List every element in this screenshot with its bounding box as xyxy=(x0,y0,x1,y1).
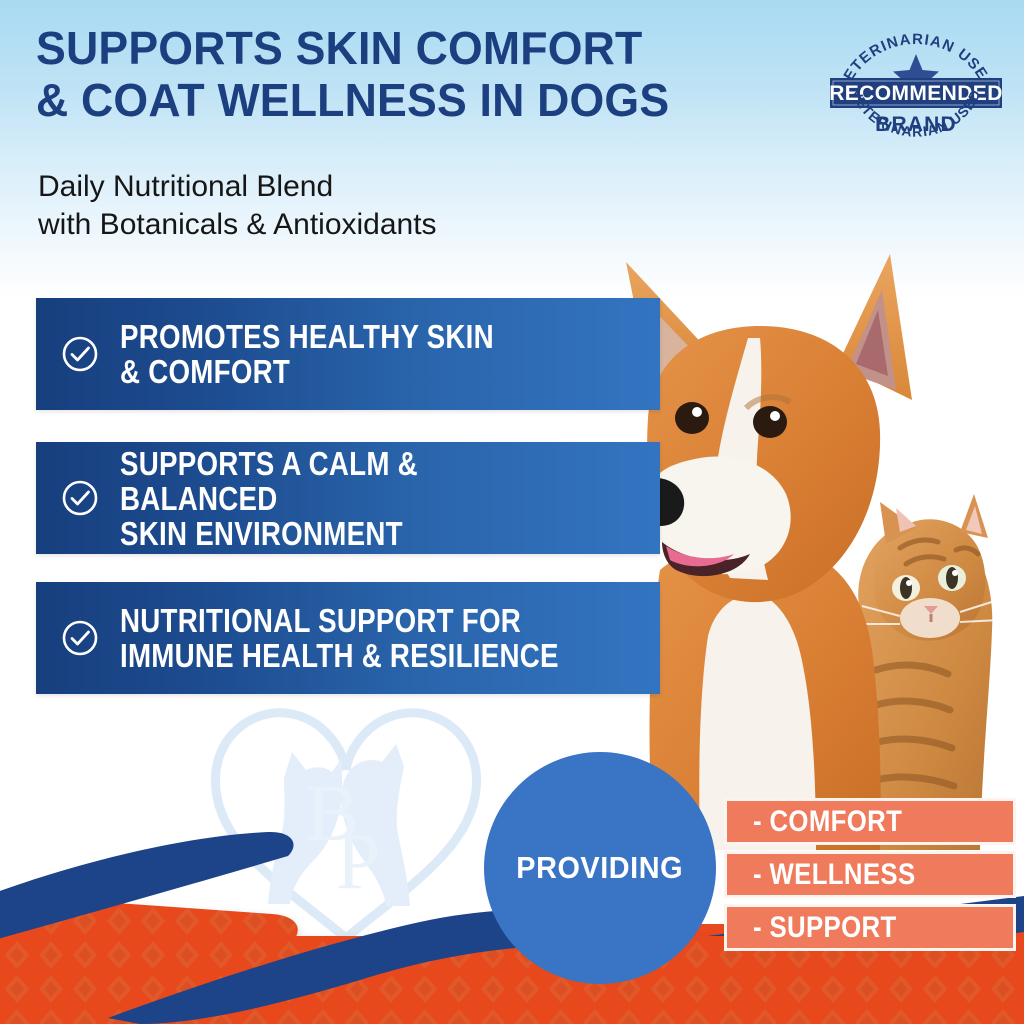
benefit-bar-2: SUPPORTS A CALM & BALANCED SKIN ENVIRONM… xyxy=(36,442,660,554)
subtitle: Daily Nutritional Blend with Botanicals … xyxy=(38,168,658,244)
check-circle-icon xyxy=(60,478,100,518)
page-title: SUPPORTS SKIN COMFORT & COAT WELLNESS IN… xyxy=(36,22,715,126)
tag-label: - SUPPORT xyxy=(753,911,897,945)
product-marketing-image: B P SUPPORTS SKIN COMFORT & COAT WELLNES… xyxy=(0,0,1024,1024)
check-circle-icon xyxy=(60,334,100,374)
providing-label: PROVIDING xyxy=(517,850,684,886)
benefit-text-3: NUTRITIONAL SUPPORT FOR IMMUNE HEALTH & … xyxy=(120,603,574,673)
benefit-bar-3: NUTRITIONAL SUPPORT FOR IMMUNE HEALTH & … xyxy=(36,582,660,694)
tag-label: - WELLNESS xyxy=(753,858,916,892)
tag-label: - COMFORT xyxy=(753,805,902,839)
check-circle-icon xyxy=(60,618,100,658)
providing-circle: PROVIDING xyxy=(484,752,716,984)
benefit-text-2: SUPPORTS A CALM & BALANCED SKIN ENVIRONM… xyxy=(120,446,574,551)
tag-support: - SUPPORT xyxy=(724,904,1016,951)
veterinarian-recommended-badge: VETERINARIAN USED RECOMMENDED BRAND VETE… xyxy=(828,26,1004,160)
benefit-bar-1: PROMOTES HEALTHY SKIN & COMFORT xyxy=(36,298,660,410)
tag-wellness: - WELLNESS xyxy=(724,851,1016,898)
tag-comfort: - COMFORT xyxy=(724,798,1016,845)
benefit-text-1: PROMOTES HEALTHY SKIN & COMFORT xyxy=(120,319,574,389)
